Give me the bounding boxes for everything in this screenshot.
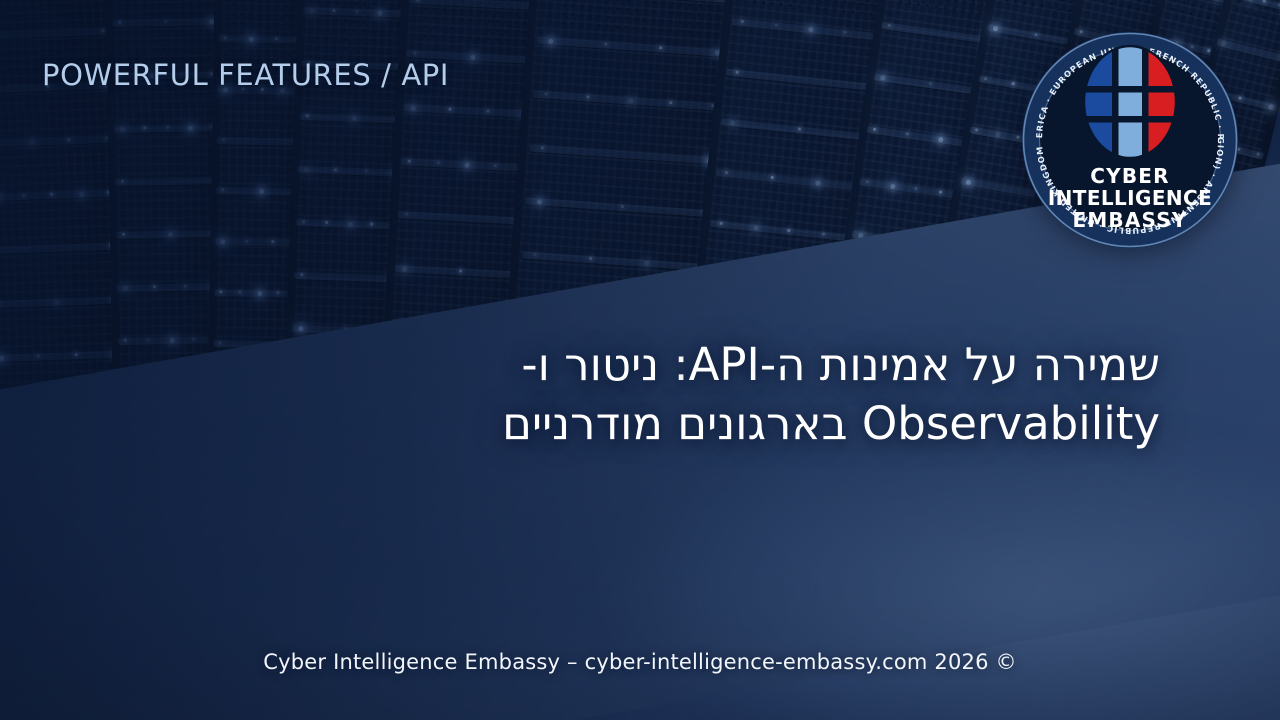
- logo-name-line2: INTELLIGENCE: [1048, 186, 1212, 210]
- logo-name-line3: EMBASSY: [1072, 208, 1187, 232]
- logo-name-line1: CYBER: [1090, 164, 1169, 188]
- page-title: שמירה על אמינות ה-API: ניטור ו-Observabi…: [280, 336, 1160, 453]
- cyber-intelligence-embassy-logo[interactable]: UNITED STATES OF AMERICA · EUROPEAN UNIO…: [1020, 30, 1240, 250]
- footer-credit: Cyber Intelligence Embassy – cyber-intel…: [0, 650, 1280, 674]
- slide-canvas: POWERFUL FEATURES / API שמירה על אמינות …: [0, 0, 1280, 720]
- eyebrow-label: POWERFUL FEATURES / API: [42, 58, 449, 92]
